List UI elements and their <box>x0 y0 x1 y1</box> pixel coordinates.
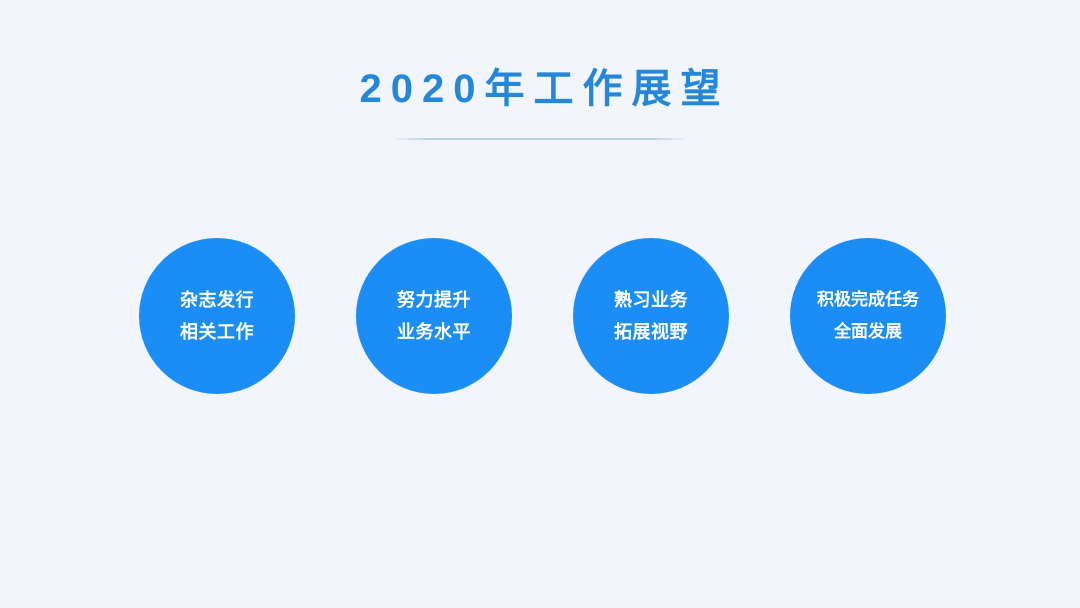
circles-row: 杂志发行 相关工作 努力提升 业务水平 熟习业务 拓展视野 积极完成任务 全面发… <box>139 237 946 394</box>
circle-item-3-line-2: 拓展视野 <box>614 316 688 348</box>
circle-item-1-line-1: 杂志发行 <box>180 284 254 316</box>
circle-item-4-line-2: 全面发展 <box>834 316 902 348</box>
circle-item-4-line-1: 积极完成任务 <box>817 284 919 316</box>
circle-item-1-line-2: 相关工作 <box>180 316 254 348</box>
circle-item-4[interactable]: 积极完成任务 全面发展 <box>790 238 946 394</box>
circle-item-2[interactable]: 努力提升 业务水平 <box>356 238 512 394</box>
title-divider <box>394 138 686 140</box>
circle-item-2-line-1: 努力提升 <box>397 284 471 316</box>
circle-item-3-line-1: 熟习业务 <box>614 284 688 316</box>
circle-item-2-line-2: 业务水平 <box>397 316 471 348</box>
circle-item-1[interactable]: 杂志发行 相关工作 <box>139 238 295 394</box>
circle-item-3[interactable]: 熟习业务 拓展视野 <box>573 238 729 394</box>
slide-canvas: 2020年工作展望 杂志发行 相关工作 努力提升 业务水平 熟习业务 拓展视野 … <box>0 0 1080 608</box>
title-block: 2020年工作展望 <box>0 62 1080 140</box>
page-title: 2020年工作展望 <box>0 62 1080 116</box>
